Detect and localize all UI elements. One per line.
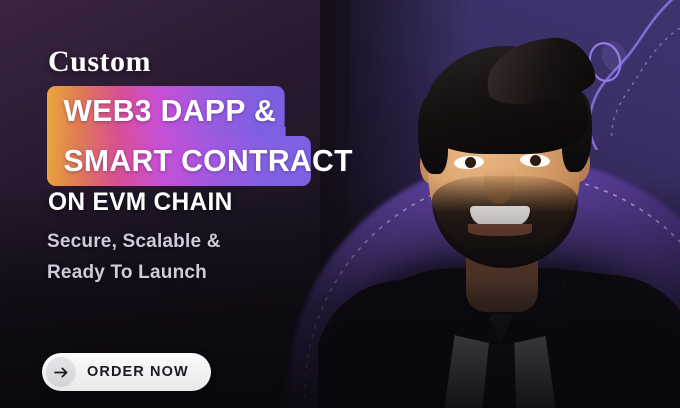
promo-banner: Custom WEB3 DAPP & SMART CONTRACT ON EVM… [0, 0, 680, 408]
kicker-text: Custom [48, 45, 151, 79]
subcopy-line-2: Ready To Launch [47, 257, 221, 288]
headline-badge-line-2: SMART CONTRACT [47, 136, 311, 186]
arrow-right-icon [46, 357, 76, 387]
headline-badge-line-1: WEB3 DAPP & [47, 86, 285, 136]
copy-block: Custom WEB3 DAPP & SMART CONTRACT ON EVM… [0, 0, 360, 408]
subcopy-block: Secure, Scalable & Ready To Launch [47, 226, 221, 288]
order-now-button[interactable]: ORDER NOW [42, 353, 211, 391]
headline-secondary: ON EVM CHAIN [48, 188, 233, 217]
order-now-label: ORDER NOW [87, 364, 189, 380]
subcopy-line-1: Secure, Scalable & [47, 226, 221, 257]
pupil-left [465, 157, 476, 168]
headline-badge: WEB3 DAPP & SMART CONTRACT [47, 86, 319, 186]
pupil-right [530, 155, 541, 166]
